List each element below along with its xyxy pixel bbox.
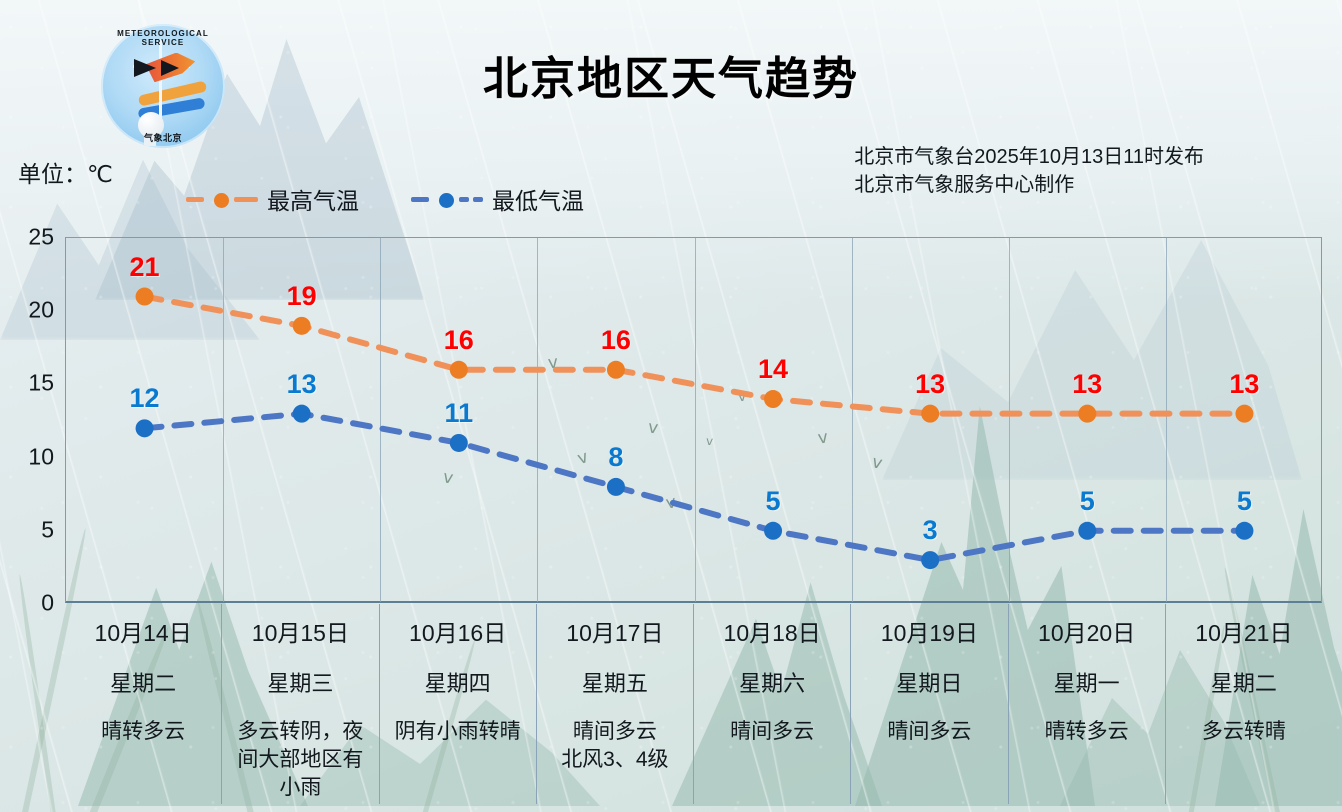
- x-axis-weekday-label: 星期六: [694, 666, 850, 698]
- x-axis-column-day-6[interactable]: 10月19日星期日晴间多云: [851, 604, 1008, 804]
- x-axis-condition-label: 晴转多云: [1009, 718, 1165, 746]
- legend-label-high: 最高气温: [267, 182, 359, 216]
- x-axis-weekday-label: 星期日: [851, 666, 1007, 698]
- x-axis-date-label: 10月16日: [380, 620, 536, 646]
- temperature-series-svg: [66, 238, 1323, 604]
- x-axis-column-day-8[interactable]: 10月21日星期二多云转晴: [1166, 604, 1322, 804]
- y-axis-tick-label: 10: [0, 443, 54, 470]
- publisher-line-1: 北京市气象台2025年10月13日11时发布: [854, 143, 1204, 171]
- data-point-marker[interactable]: [1235, 522, 1253, 540]
- x-axis-condition-label: 阴有小雨转晴: [380, 718, 536, 746]
- data-point-value-label: 3: [923, 515, 938, 546]
- data-point-marker[interactable]: [450, 361, 468, 379]
- data-point-marker[interactable]: [1078, 522, 1096, 540]
- legend-item-high-temp[interactable]: 最高气温: [186, 182, 359, 216]
- plot-area: 211916161413131312131185355: [65, 237, 1322, 603]
- data-point-value-label: 13: [1072, 369, 1102, 400]
- data-point-marker[interactable]: [136, 288, 154, 306]
- page-title: 北京地区天气趋势: [0, 42, 1342, 107]
- x-axis-column-day-5[interactable]: 10月18日星期六晴间多云: [694, 604, 851, 804]
- x-axis-column-day-1[interactable]: 10月14日星期二晴转多云: [65, 604, 222, 804]
- x-axis-date-label: 10月18日: [694, 620, 850, 646]
- x-axis-date-label: 10月14日: [65, 620, 221, 646]
- data-point-value-label: 21: [130, 252, 160, 283]
- data-point-value-label: 16: [444, 325, 474, 356]
- y-axis-tick-label: 5: [0, 516, 54, 543]
- x-axis-date-label: 10月17日: [537, 620, 693, 646]
- x-axis-column-day-4[interactable]: 10月17日星期五晴间多云北风3、4级: [537, 604, 694, 804]
- data-point-marker[interactable]: [293, 405, 311, 423]
- weather-trend-chart-page: v v v v v v v v v METEOROLOGICAL SERVICE…: [0, 0, 1342, 812]
- data-point-value-label: 5: [1237, 486, 1252, 517]
- x-axis-column-day-7[interactable]: 10月20日星期一晴转多云: [1009, 604, 1166, 804]
- y-axis-tick-label: 20: [0, 297, 54, 324]
- data-point-marker[interactable]: [921, 551, 939, 569]
- unit-label: 单位：℃: [18, 155, 113, 189]
- data-point-marker[interactable]: [921, 405, 939, 423]
- data-point-marker[interactable]: [1235, 405, 1253, 423]
- x-axis-weekday-label: 星期一: [1009, 666, 1165, 698]
- publisher-info: 北京市气象台2025年10月13日11时发布 北京市气象服务中心制作: [854, 143, 1204, 200]
- data-point-marker[interactable]: [293, 317, 311, 335]
- y-axis-tick-label: 25: [0, 224, 54, 251]
- x-axis-condition-label: 多云转阴，夜间大部地区有小雨: [222, 718, 378, 801]
- x-axis-column-day-2[interactable]: 10月15日星期三多云转阴，夜间大部地区有小雨: [222, 604, 379, 804]
- data-point-marker[interactable]: [136, 419, 154, 437]
- x-axis-weekday-label: 星期三: [222, 666, 378, 698]
- y-axis-tick-label: 0: [0, 590, 54, 617]
- data-point-value-label: 5: [1080, 486, 1095, 517]
- x-axis-weekday-label: 星期四: [380, 666, 536, 698]
- legend-item-low-temp[interactable]: 最低气温: [411, 182, 584, 216]
- x-axis-condition-label: 晴间多云: [851, 718, 1007, 746]
- y-axis-tick-label: 15: [0, 370, 54, 397]
- x-axis-date-label: 10月15日: [222, 620, 378, 646]
- data-point-value-label: 19: [287, 281, 317, 312]
- data-point-value-label: 16: [601, 325, 631, 356]
- data-point-marker[interactable]: [607, 361, 625, 379]
- data-point-marker[interactable]: [764, 522, 782, 540]
- data-point-value-label: 11: [445, 398, 474, 429]
- publisher-line-2: 北京市气象服务中心制作: [854, 171, 1204, 199]
- logo-text-bottom: 气象北京: [101, 131, 225, 144]
- x-axis-date-label: 10月20日: [1009, 620, 1165, 646]
- data-point-value-label: 12: [130, 383, 160, 414]
- data-point-value-label: 13: [1229, 369, 1259, 400]
- data-point-value-label: 14: [758, 354, 788, 385]
- data-point-marker[interactable]: [1078, 405, 1096, 423]
- x-axis-columns: 10月14日星期二晴转多云10月15日星期三多云转阴，夜间大部地区有小雨10月1…: [65, 604, 1322, 804]
- x-axis-condition-label: 晴间多云: [694, 718, 850, 746]
- data-point-marker[interactable]: [450, 434, 468, 452]
- legend-swatch-high: [186, 191, 258, 207]
- data-point-marker[interactable]: [764, 390, 782, 408]
- x-axis-condition-label: 晴转多云: [65, 718, 221, 746]
- data-point-value-label: 13: [915, 369, 945, 400]
- x-axis-date-label: 10月21日: [1166, 620, 1322, 646]
- x-axis-date-label: 10月19日: [851, 620, 1007, 646]
- data-point-value-label: 5: [766, 486, 781, 517]
- legend-swatch-low: [411, 191, 483, 207]
- x-axis-weekday-label: 星期五: [537, 666, 693, 698]
- data-point-value-label: 13: [287, 369, 317, 400]
- chart-legend: 最高气温 最低气温: [186, 182, 584, 216]
- x-axis-weekday-label: 星期二: [65, 666, 221, 698]
- data-point-value-label: 8: [608, 442, 623, 473]
- x-axis-condition-label: 多云转晴: [1166, 718, 1322, 746]
- x-axis-column-day-3[interactable]: 10月16日星期四阴有小雨转晴: [380, 604, 537, 804]
- x-axis-weekday-label: 星期二: [1166, 666, 1322, 698]
- data-point-marker[interactable]: [607, 478, 625, 496]
- x-axis-condition-label: 晴间多云北风3、4级: [537, 718, 693, 773]
- legend-label-low: 最低气温: [492, 182, 584, 216]
